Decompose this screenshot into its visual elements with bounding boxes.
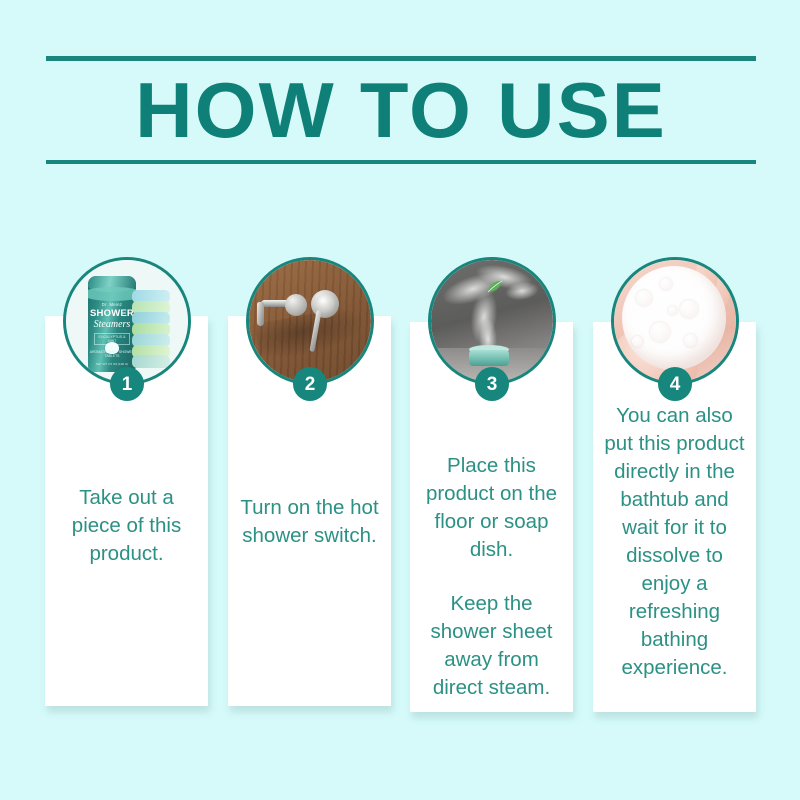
- step-3-text-b: Keep the shower sheet away from direct s…: [420, 590, 563, 702]
- step-2-illustration: 2: [246, 257, 374, 385]
- shower-tablet: [469, 350, 509, 366]
- step-2-circle-frame: [246, 257, 374, 385]
- step-2-badge: 2: [293, 367, 327, 401]
- product-footer: AROMATHERAPY SHOWER TABLETS: [88, 350, 136, 358]
- step-3-text-a: Place this product on the floor or soap …: [420, 452, 563, 564]
- product-tube: Dr. Meinz SHOWER Steamers EUCALYPTUS & M…: [88, 276, 136, 372]
- shower-steamers-product-tube-photo: Dr. Meinz SHOWER Steamers EUCALYPTUS & M…: [66, 260, 188, 382]
- step-3-circle-frame: [428, 257, 556, 385]
- step-4-illustration: 4: [611, 257, 739, 385]
- step-1-illustration: Dr. Meinz SHOWER Steamers EUCALYPTUS & M…: [63, 257, 191, 385]
- step-4-text: You can also put this product directly i…: [603, 402, 746, 682]
- step-2-text: Turn on the hot shower switch.: [238, 494, 381, 550]
- foam-in-hands-photo: [614, 260, 736, 382]
- faucet-spout-icon: [285, 294, 307, 316]
- product-brand: Dr. Meinz: [88, 302, 136, 307]
- product-weight: NET WT 3.5 OZ (100 G): [88, 362, 136, 366]
- wall-mounted-shower-faucet-photo: [249, 260, 371, 382]
- step-1-circle-frame: Dr. Meinz SHOWER Steamers EUCALYPTUS & M…: [63, 257, 191, 385]
- step-4-badge: 4: [658, 367, 692, 401]
- product-name-line1: SHOWER: [88, 308, 136, 319]
- step-3-illustration: 3: [428, 257, 556, 385]
- steps-grid: Take out a piece of this product. Turn o…: [0, 0, 800, 800]
- product-name-line2: Steamers: [88, 319, 136, 330]
- steaming-tablet-on-shower-floor-photo: [431, 260, 553, 382]
- foam-ball: [622, 266, 726, 370]
- step-4-circle-frame: [611, 257, 739, 385]
- step-3-badge: 3: [475, 367, 509, 401]
- step-1-text: Take out a piece of this product.: [55, 484, 198, 568]
- step-1-badge: 1: [110, 367, 144, 401]
- leaf-icon: [487, 280, 503, 293]
- tablet-stack: [132, 290, 170, 368]
